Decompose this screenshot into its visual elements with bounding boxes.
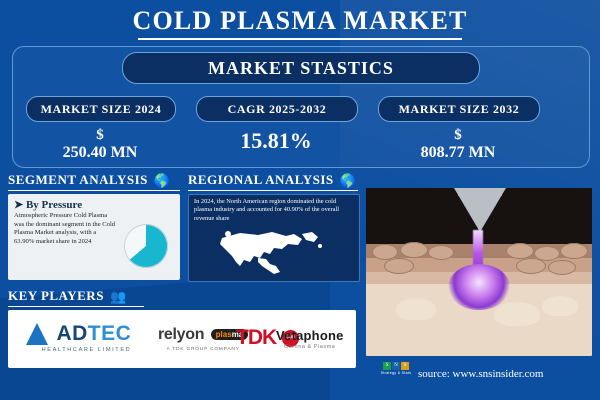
sns-box-s2: S bbox=[401, 362, 409, 370]
infographic-canvas: COLD PLASMA MARKET MARKET STASTICS MARKE… bbox=[0, 0, 600, 400]
logo-relyon: relyon plasma A TDK GROUP COMPANY bbox=[158, 326, 248, 352]
regional-analysis-heading: REGIONAL ANALYSIS 🌎 bbox=[188, 172, 356, 188]
north-america-map bbox=[214, 228, 332, 278]
plasma-device-nozzle bbox=[454, 188, 506, 232]
sns-logo-boxes: S N S bbox=[383, 362, 409, 370]
adtec-accent: TEC bbox=[88, 322, 132, 345]
adtec-triangle-icon bbox=[26, 323, 48, 345]
tdk-name: TDK bbox=[236, 326, 276, 350]
amount-2024: 250.40 MN bbox=[26, 144, 174, 162]
plasma-glow bbox=[448, 264, 510, 310]
sns-box-s: S bbox=[383, 362, 391, 370]
segment-heading-label: SEGMENT ANALYSIS bbox=[8, 172, 148, 188]
skin-cell bbox=[516, 258, 546, 274]
skin-bump bbox=[542, 296, 578, 316]
market-statistics-header: MARKET STASTICS bbox=[122, 52, 480, 84]
relyon-name: relyon bbox=[158, 326, 204, 343]
adtec-subtitle: HEALTHCARE LIMITED bbox=[26, 347, 131, 353]
stat-label-market-size-2024: MARKET SIZE 2024 bbox=[26, 96, 176, 122]
stat-value-market-size-2032: $ 808.77 MN bbox=[378, 126, 538, 162]
skin-cell bbox=[560, 243, 588, 259]
skin-cell bbox=[428, 245, 454, 260]
skin-bump bbox=[494, 302, 540, 326]
stat-value-market-size-2024: $ 250.40 MN bbox=[26, 126, 174, 162]
sns-box-n: N bbox=[392, 362, 400, 370]
logo-adtec: ADTEC HEALTHCARE LIMITED bbox=[26, 322, 131, 353]
sns-insider-logo: S N S Strategy & Stats bbox=[380, 362, 412, 386]
logo-vetaphone: Vetaphone Corona & Plasma bbox=[276, 328, 344, 350]
globe-icon: 🌎 bbox=[340, 174, 357, 187]
currency-symbol-2032: $ bbox=[378, 126, 538, 144]
skin-bump bbox=[396, 298, 436, 320]
vetaphone-subtitle: Corona & Plasma bbox=[276, 344, 344, 350]
globe-icon: 🌎 bbox=[154, 174, 171, 187]
people-icon: 👥 bbox=[110, 290, 127, 303]
regional-heading-label: REGIONAL ANALYSIS bbox=[188, 172, 334, 188]
amount-2032: 808.77 MN bbox=[378, 144, 538, 162]
segment-analysis-heading: SEGMENT ANALYSIS 🌎 bbox=[8, 172, 171, 188]
relyon-badge-left: plas bbox=[216, 330, 232, 339]
plasma-treatment-illustration bbox=[366, 188, 592, 356]
key-players-heading: KEY PLAYERS 👥 bbox=[8, 288, 127, 304]
regional-body-text: In 2024, the North American region domin… bbox=[194, 198, 352, 223]
skin-cell bbox=[384, 258, 414, 274]
key-players-heading-label: KEY PLAYERS bbox=[8, 288, 104, 304]
segment-body-text: Atmospheric Pressure Cold Plasma was the… bbox=[14, 212, 118, 246]
regional-heading-underline bbox=[188, 190, 358, 191]
segment-pie-chart bbox=[124, 224, 168, 268]
skin-cell bbox=[506, 243, 534, 259]
skin-cell bbox=[400, 242, 428, 258]
sns-logo-caption: Strategy & Stats bbox=[381, 371, 412, 375]
source-text: source: www.snsinsider.com bbox=[418, 368, 543, 380]
segment-heading-underline bbox=[8, 190, 180, 191]
vetaphone-name: Vetaphone bbox=[276, 328, 344, 343]
key-players-heading-underline bbox=[8, 306, 144, 307]
relyon-subtitle: A TDK GROUP COMPANY bbox=[158, 347, 248, 352]
currency-symbol-2024: $ bbox=[26, 126, 174, 144]
stat-label-cagr: CAGR 2025-2032 bbox=[196, 96, 358, 122]
skin-cell bbox=[548, 260, 576, 275]
segment-subtitle: ➤ By Pressure bbox=[14, 198, 82, 211]
adtec-name: AD bbox=[56, 322, 87, 345]
title-divider bbox=[138, 38, 462, 40]
stat-label-market-size-2032: MARKET SIZE 2032 bbox=[378, 96, 540, 122]
stat-value-cagr: 15.81% bbox=[196, 128, 356, 154]
page-title: COLD PLASMA MARKET bbox=[0, 6, 600, 36]
